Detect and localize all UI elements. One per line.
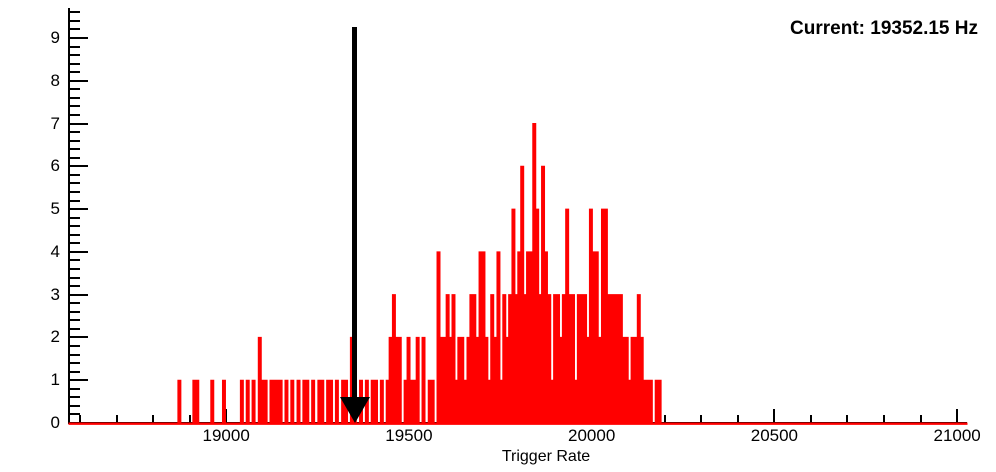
root-canvas: Current: 19352.15 Hz 0123456789 19000195… — [0, 0, 996, 472]
x-axis-title: Trigger Rate — [0, 448, 996, 466]
histogram-series — [0, 0, 996, 472]
current-rate-arrow-head — [340, 397, 370, 423]
current-rate-arrow-shaft — [352, 27, 357, 401]
x-axis-title-label: Trigger Rate — [502, 448, 590, 465]
histogram-outline — [69, 124, 967, 425]
